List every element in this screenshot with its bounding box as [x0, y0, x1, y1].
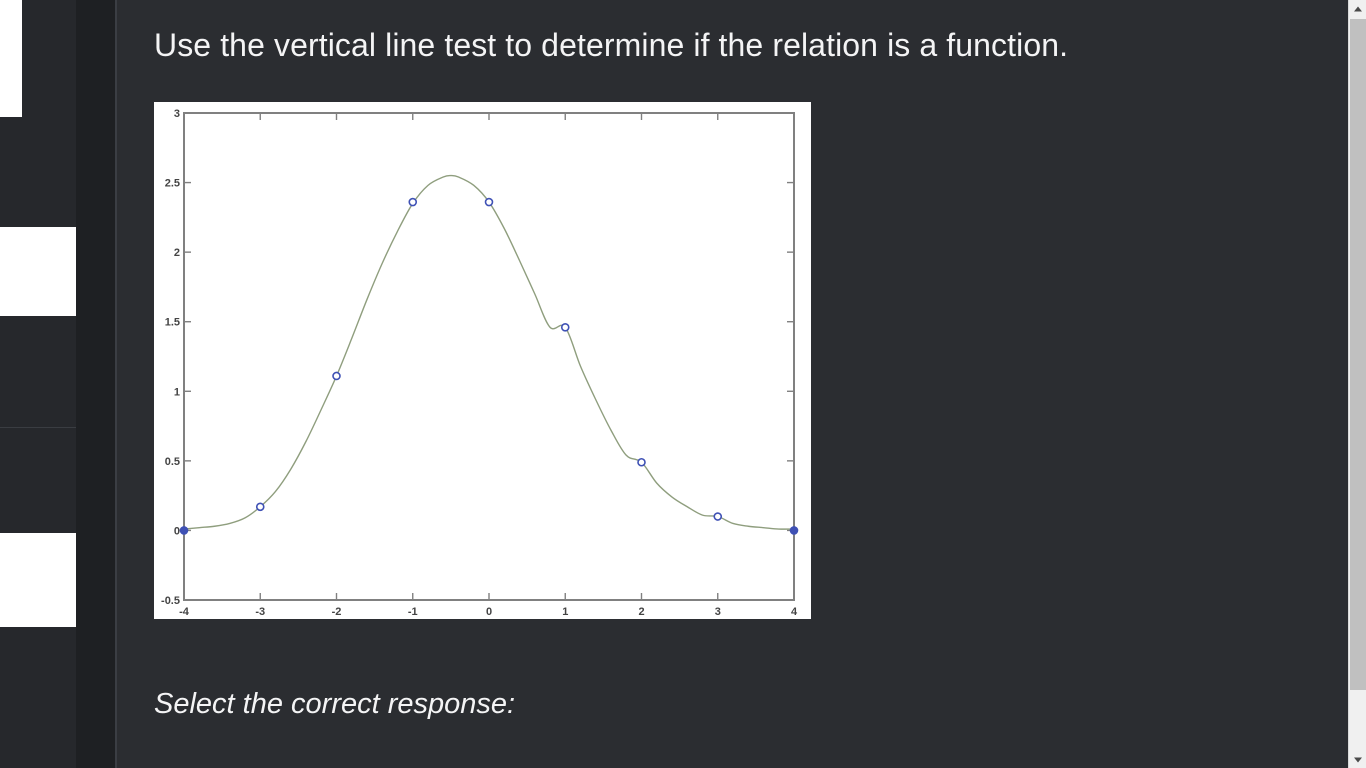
data-point-marker — [791, 527, 798, 534]
data-point-marker — [486, 199, 493, 206]
svg-text:3: 3 — [715, 606, 721, 618]
select-response-prompt: Select the correct response: — [154, 688, 515, 721]
sidebar-item-3[interactable] — [0, 533, 76, 627]
figure-background — [154, 102, 811, 619]
svg-text:-0.5: -0.5 — [161, 595, 180, 607]
svg-text:2: 2 — [638, 606, 644, 618]
data-point-marker — [562, 324, 569, 331]
svg-text:2: 2 — [174, 247, 180, 259]
data-point-marker — [409, 199, 416, 206]
data-point-marker — [257, 503, 264, 510]
svg-text:1: 1 — [174, 386, 180, 398]
svg-text:-1: -1 — [408, 606, 418, 618]
svg-text:4: 4 — [791, 606, 798, 618]
data-point-marker — [181, 527, 188, 534]
scroll-up-button[interactable] — [1349, 0, 1366, 17]
svg-text:-4: -4 — [179, 606, 190, 618]
graph-svg: -0.500.511.522.53 -4-3-2-101234 — [154, 102, 811, 619]
data-point-marker — [714, 513, 721, 520]
left-sidebar-panel — [0, 0, 76, 768]
vertical-scrollbar[interactable] — [1348, 0, 1366, 768]
app-window: Use the vertical line test to determine … — [0, 0, 1366, 768]
svg-text:0: 0 — [486, 606, 492, 618]
sidebar-item-2[interactable] — [0, 227, 76, 316]
data-point-marker — [638, 459, 645, 466]
svg-text:1: 1 — [562, 606, 568, 618]
sidebar-gutter — [76, 0, 116, 768]
question-content-area: Use the vertical line test to determine … — [117, 0, 1348, 768]
svg-text:-3: -3 — [255, 606, 265, 618]
sidebar-item-1[interactable] — [0, 0, 22, 117]
svg-text:0.5: 0.5 — [165, 456, 180, 468]
scrollbar-thumb[interactable] — [1350, 19, 1366, 690]
relation-graph-figure: -0.500.511.522.53 -4-3-2-101234 — [154, 102, 811, 619]
svg-text:3: 3 — [174, 108, 180, 120]
svg-text:2.5: 2.5 — [165, 178, 180, 190]
svg-text:-2: -2 — [332, 606, 342, 618]
data-point-marker — [333, 372, 340, 379]
triangle-down-icon — [1354, 757, 1362, 762]
sidebar-divider — [0, 427, 76, 428]
triangle-up-icon — [1354, 6, 1362, 11]
scroll-down-button[interactable] — [1349, 751, 1366, 768]
page-title: Use the vertical line test to determine … — [154, 25, 1314, 65]
svg-text:0: 0 — [174, 525, 180, 537]
svg-text:1.5: 1.5 — [165, 317, 180, 329]
